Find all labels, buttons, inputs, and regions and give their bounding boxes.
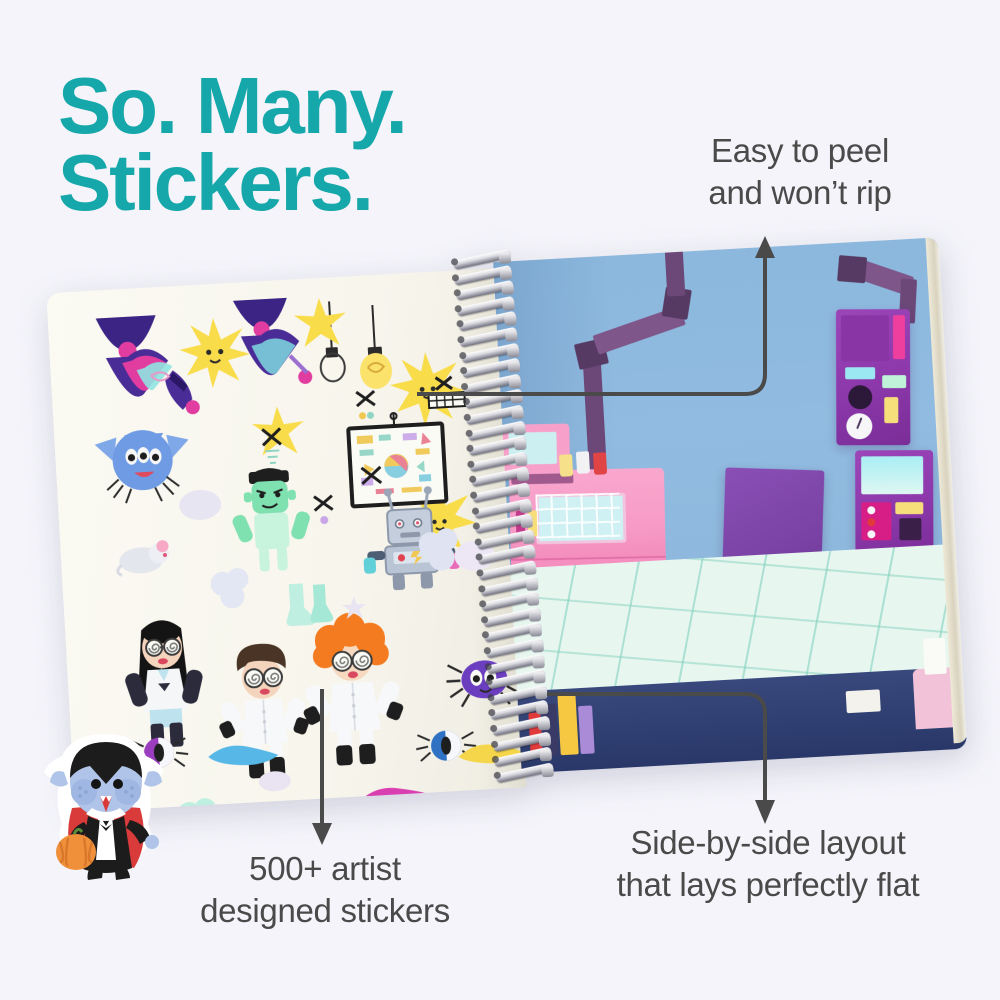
callout-lays-flat: Side-by-side layout that lays perfectly …: [558, 822, 978, 906]
spiral-punch-hole: [491, 740, 498, 747]
spiral-punch-hole: [487, 694, 494, 701]
smiling-star-sticker: [176, 314, 254, 392]
panel-face: [841, 315, 889, 361]
panel-led: [867, 530, 875, 538]
tiny-star-sticker: [340, 594, 370, 624]
spiral-punch-hole: [474, 538, 481, 545]
panel-led: [867, 506, 875, 514]
callout-connector-peel: [415, 228, 785, 408]
mint-splat-sticker: [170, 790, 229, 812]
blue-blob-sticker: [201, 737, 283, 771]
control-panel-upper: [836, 309, 910, 445]
purple-blob-sticker: [255, 766, 295, 796]
panel-big-screen: [861, 456, 923, 494]
callout-sticker-count: 500+ artist designed stickers: [160, 848, 490, 932]
vampire-mascot-sticker: [40, 730, 172, 882]
white-object: [923, 638, 947, 675]
mint-splat-sticker: [203, 560, 260, 617]
spiral-punch-hole: [484, 663, 491, 670]
white-object: [846, 689, 881, 713]
microscope-sticker: [406, 807, 472, 813]
page-title: So. Many. Stickers.: [58, 68, 618, 222]
dna-molecule-sticker: [310, 491, 338, 532]
panel-led-yellow: [884, 397, 898, 423]
callout-line-1: 500+ artist: [160, 848, 490, 890]
panel-led: [867, 518, 875, 526]
white-bottle: [576, 451, 590, 474]
panel-screen: [882, 375, 906, 388]
spiral-punch-hole: [483, 647, 490, 654]
spiral-punch-hole: [493, 771, 500, 778]
yellow-bottle: [559, 454, 573, 477]
callout-line-2: and won’t rip: [645, 172, 955, 214]
callout-easy-to-peel: Easy to peel and won’t rip: [645, 130, 955, 214]
dna-molecule-sticker: [258, 424, 286, 469]
headline-line-1: So. Many.: [58, 61, 406, 150]
red-bottle: [593, 452, 607, 475]
callout-connector-flat: [545, 690, 795, 830]
mouse-sticker: [114, 532, 178, 577]
marketing-image: So. Many. Stickers.: [0, 0, 1000, 1000]
mint-shoe-sticker: [281, 578, 338, 629]
spiral-punch-hole: [465, 429, 472, 436]
mint-blob-sticker: [175, 484, 225, 527]
spiral-punch-hole: [478, 585, 485, 592]
callout-connector-count: [300, 685, 350, 850]
control-panel-lower: [855, 450, 933, 558]
vent-pipe-elbow: [837, 255, 867, 283]
pink-blob-sticker: [358, 780, 435, 810]
panel-strip-pink: [893, 315, 905, 359]
panel-bar-yellow: [895, 502, 923, 514]
callout-line-2: designed stickers: [160, 890, 490, 932]
panel-dark-square: [899, 518, 921, 540]
panel-dial-dark: [848, 385, 872, 409]
panel-keypad: [861, 502, 891, 540]
spiral-punch-hole: [472, 507, 479, 514]
callout-line-2: that lays perfectly flat: [558, 864, 978, 906]
star-sticker: [291, 294, 350, 353]
panel-screen: [845, 367, 875, 379]
callout-line-1: Easy to peel: [645, 130, 955, 172]
callout-line-1: Side-by-side layout: [558, 822, 978, 864]
spiral-punch-hole: [490, 725, 497, 732]
spiral-punch-hole: [481, 616, 488, 623]
dna-molecule-sticker: [352, 387, 380, 428]
headline-line-2: Stickers.: [58, 145, 618, 222]
